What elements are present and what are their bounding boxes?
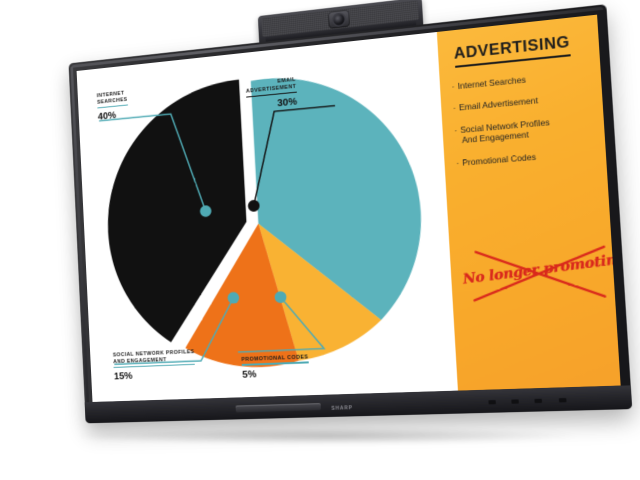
list-item-struck[interactable]: · Promotional Codes	[456, 146, 595, 168]
list-item-label: Promotional Codes	[462, 151, 536, 168]
page-title: ADVERTISING	[453, 33, 570, 68]
pen-tray[interactable]	[236, 403, 321, 412]
list-item-label-line2: And Engagement	[461, 128, 551, 147]
callout-title: INTERNET SEARCHES	[97, 90, 128, 107]
list-item[interactable]: · Social Network Profiles And Engagement	[454, 113, 594, 147]
camera-housing	[328, 10, 350, 29]
handwritten-annotation: No longer promoting	[461, 250, 621, 288]
list-item-label: Email Advertisement	[459, 95, 539, 113]
bezel-vent	[559, 398, 567, 402]
bezel-vent	[488, 400, 496, 404]
callout-email-advertisement: EMAIL ADVERTISEMENT 30%	[245, 77, 297, 112]
callout-promotional-codes: PROMOTIONAL CODES 5%	[241, 354, 309, 380]
bullet-dot-icon: ·	[453, 103, 456, 114]
list-item-label: Social Network Profiles And Engagement	[460, 116, 551, 146]
chart-panel: INTERNET SEARCHES 40% EMAIL ADVERTISEMEN…	[77, 32, 458, 402]
red-strikethrough-mark	[436, 15, 620, 391]
bezel-vent	[511, 399, 519, 403]
interactive-display[interactable]: INTERNET SEARCHES 40% EMAIL ADVERTISEMEN…	[69, 4, 633, 423]
screenshot-root: INTERNET SEARCHES 40% EMAIL ADVERTISEMEN…	[0, 0, 640, 480]
camera-lens-icon	[333, 13, 344, 25]
callout-value: 5%	[242, 366, 310, 380]
bezel-vent	[535, 399, 543, 403]
list-item[interactable]: · Internet Searches	[451, 68, 590, 92]
list-item-label: Internet Searches	[457, 74, 526, 92]
advertising-bullet-list: · Internet Searches · Email Advertisemen…	[451, 68, 595, 168]
bullet-dot-icon: ·	[451, 81, 454, 92]
callout-internet-searches: INTERNET SEARCHES 40%	[97, 90, 129, 122]
bullet-dot-icon: ·	[454, 125, 457, 136]
list-item-label-line1: Social Network Profiles	[460, 116, 550, 134]
display-screen[interactable]: INTERNET SEARCHES 40% EMAIL ADVERTISEMEN…	[77, 15, 621, 402]
callout-social-network: SOCIAL NETWORK PROFILES AND ENGAGEMENT 1…	[113, 349, 196, 382]
bullet-dot-icon: ·	[456, 157, 459, 168]
advertising-list-panel: ADVERTISING · Internet Searches · Email …	[436, 15, 620, 391]
list-item[interactable]: · Email Advertisement	[453, 90, 592, 114]
display-device-wrapper: INTERNET SEARCHES 40% EMAIL ADVERTISEMEN…	[0, 0, 640, 480]
